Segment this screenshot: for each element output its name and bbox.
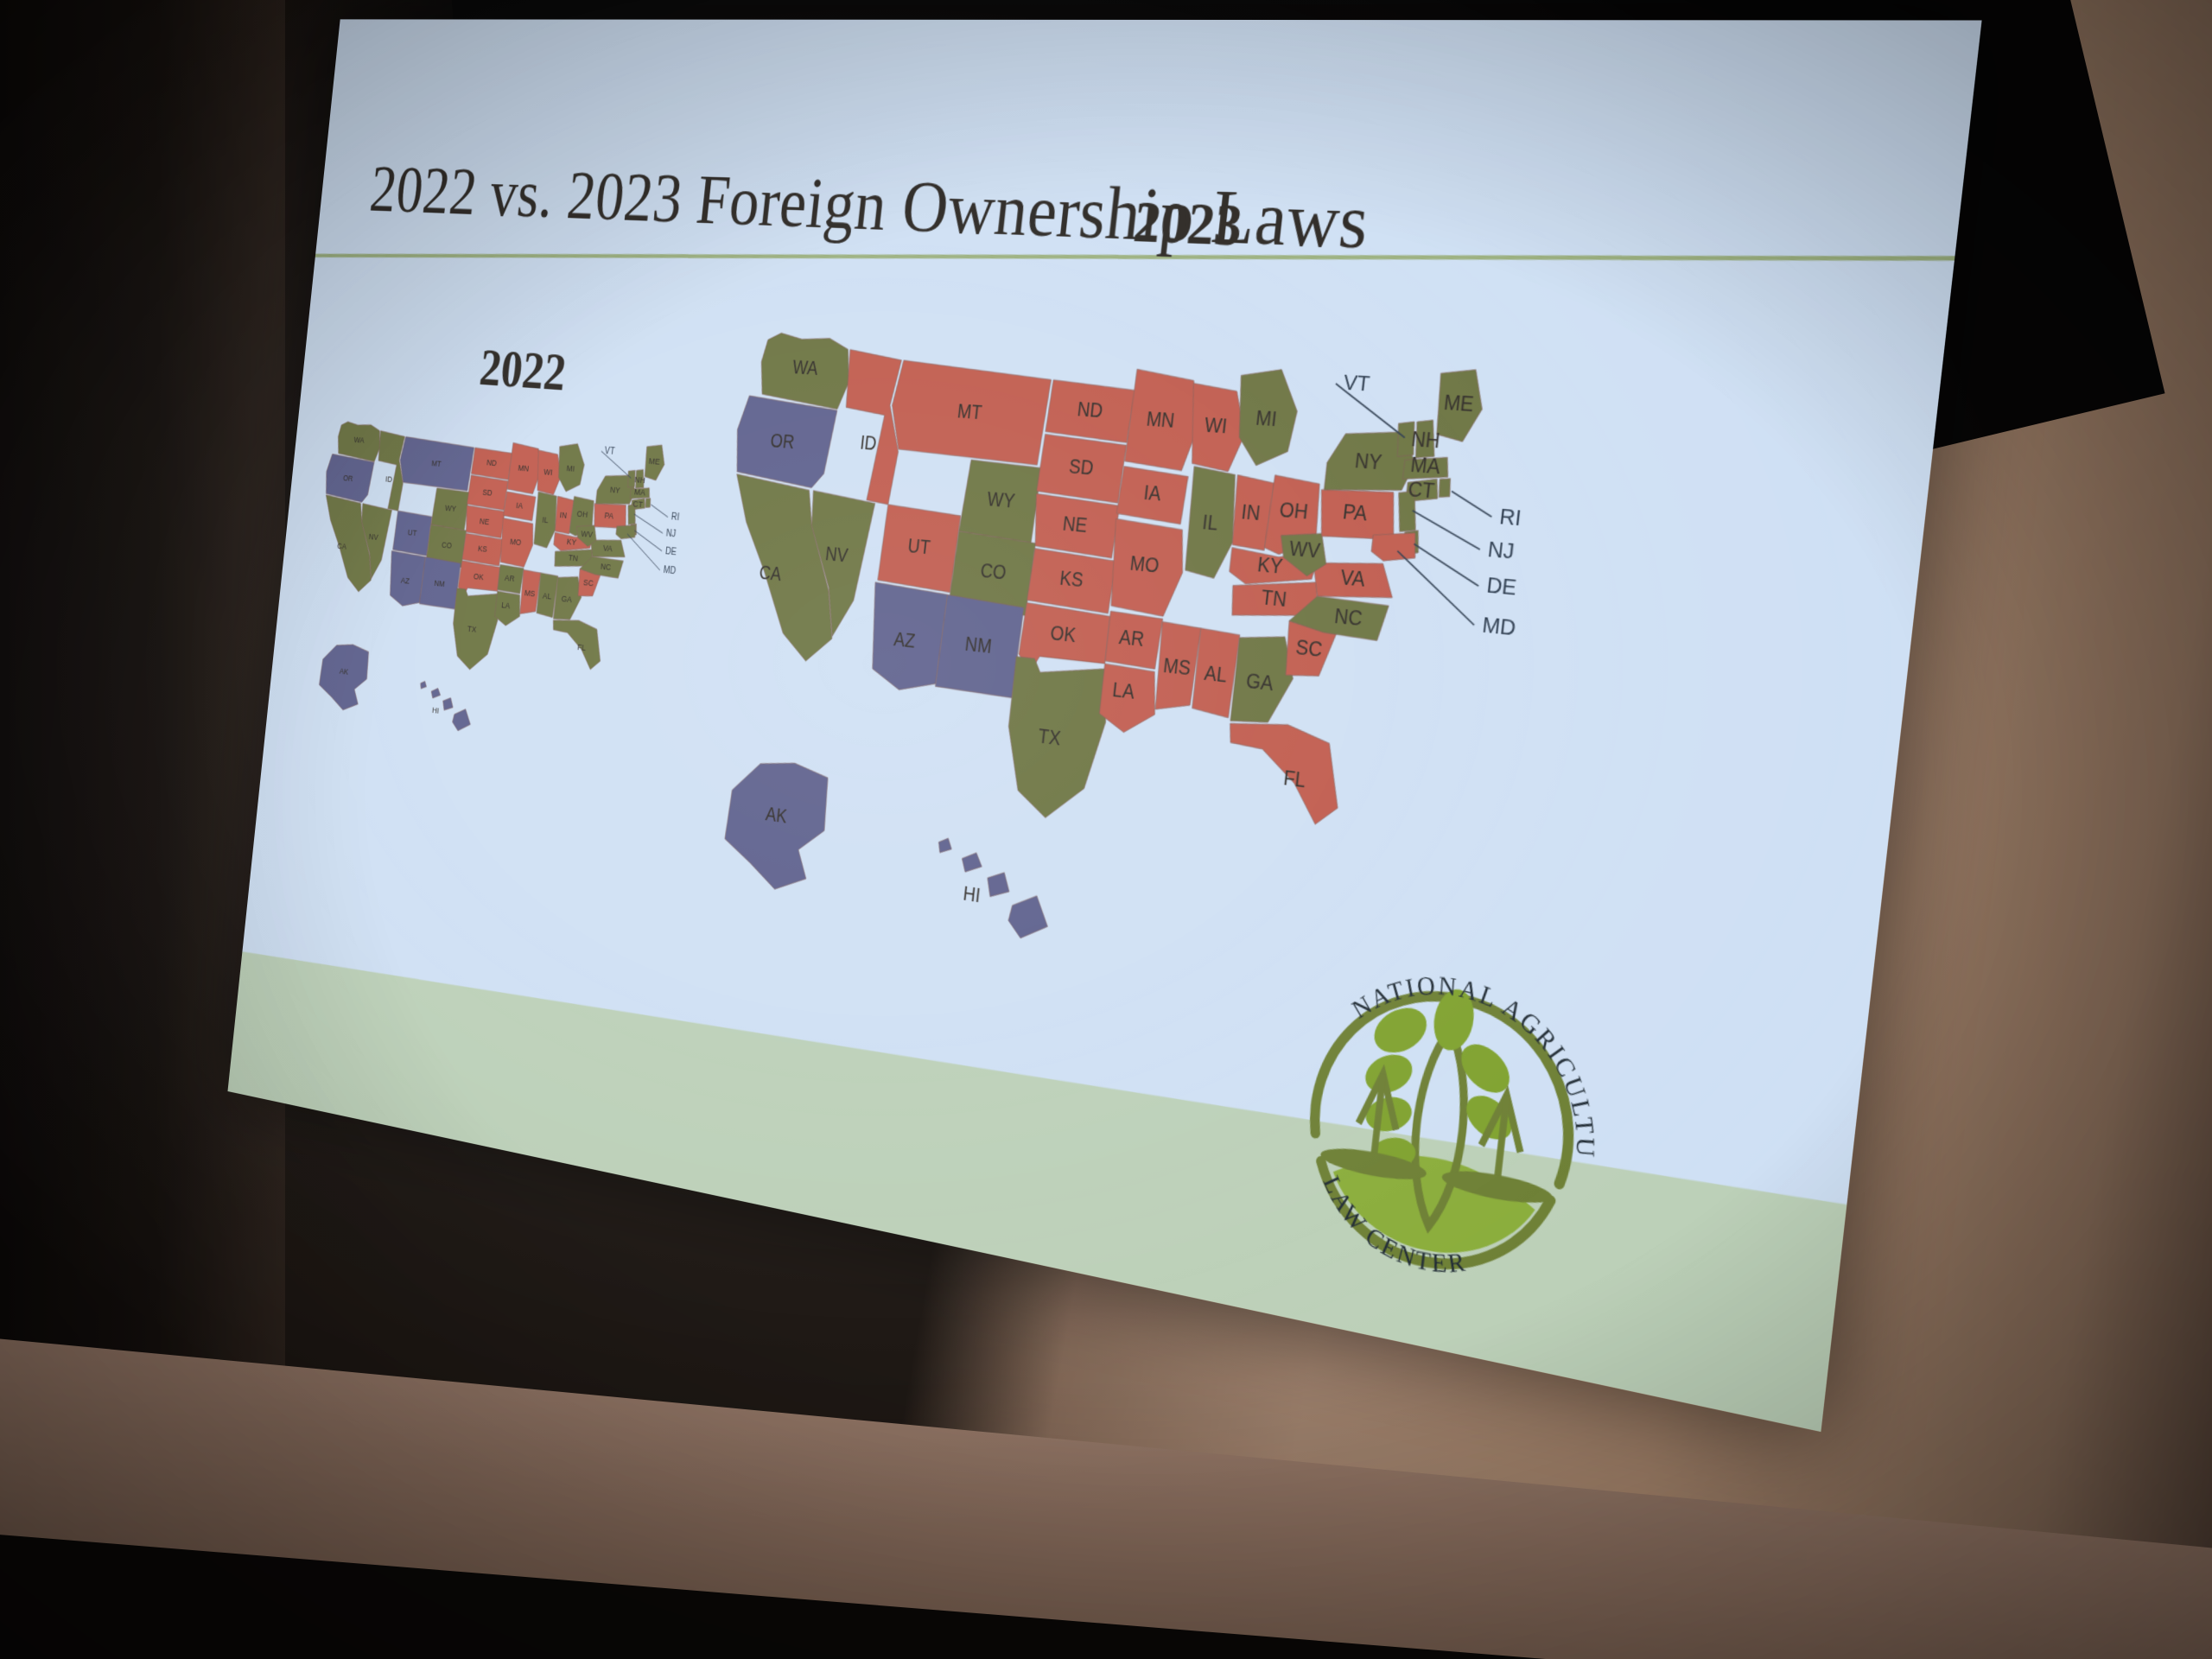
- slide-bottom-band: [227, 944, 1981, 1432]
- state-label-il: IL: [542, 516, 550, 526]
- us-map-2022: WAORCANVIDMTWYUTCOAZNMNDSDNEKSOKTXMNIAMO…: [273, 379, 842, 869]
- logo-leaves: [1349, 974, 1534, 1197]
- state-sc: [577, 569, 601, 598]
- state-ar: [498, 565, 524, 594]
- state-fl: [1220, 718, 1346, 827]
- logo-pan-right: [1440, 1165, 1553, 1209]
- state-id: [834, 350, 909, 505]
- state-nd: [471, 448, 512, 480]
- state-tn: [554, 546, 594, 570]
- state-label-ks: KS: [1058, 569, 1084, 592]
- state-label-ms: MS: [1162, 656, 1192, 681]
- state-label-oh: OH: [1279, 499, 1309, 523]
- leader-line-nj: [632, 514, 664, 533]
- state-label-il: IL: [1201, 512, 1218, 535]
- state-in: [554, 496, 574, 534]
- state-va: [589, 537, 627, 560]
- state-label-nh: NH: [1410, 429, 1441, 454]
- room-scene: 2022 vs. 2023 Foreign Ownership Laws 202…: [0, 0, 2212, 1659]
- state-label-nh: NH: [634, 475, 645, 486]
- leader-line-md: [624, 534, 664, 570]
- state-md: [1370, 530, 1418, 563]
- state-de: [1402, 530, 1421, 556]
- state-nc: [1288, 594, 1389, 641]
- state-pa: [1317, 486, 1399, 542]
- state-label-mi: MI: [1255, 408, 1278, 431]
- leader-line-de: [1410, 544, 1483, 587]
- state-ga: [1230, 632, 1298, 728]
- state-label-or: OR: [769, 431, 795, 454]
- state-label-fl: FL: [1282, 767, 1306, 792]
- state-ma: [630, 486, 651, 500]
- state-label-oh: OH: [576, 510, 588, 521]
- state-label-ma: MA: [1409, 454, 1442, 479]
- state-ny: [595, 473, 637, 507]
- state-az: [386, 550, 426, 607]
- state-al: [1192, 628, 1240, 718]
- state-label-tn: TN: [1260, 588, 1287, 613]
- us-map-2022-svg: WAORCANVIDMTWYUTCOAZNMNDSDNEKSOKTXMNIAMO…: [273, 379, 842, 869]
- state-nh: [1413, 419, 1438, 459]
- state-nm: [935, 594, 1025, 698]
- state-nh: [634, 469, 645, 489]
- state-label-ma: MA: [633, 487, 645, 499]
- state-me: [1433, 368, 1486, 443]
- state-oh: [569, 496, 595, 537]
- state-label-ct: CT: [632, 499, 644, 511]
- state-label-va: VA: [602, 543, 613, 555]
- state-wy: [430, 488, 469, 531]
- state-wa: [336, 421, 383, 461]
- state-ks: [462, 533, 504, 566]
- state-mn: [507, 442, 543, 494]
- logo-ring-bottom: [1313, 1158, 1550, 1285]
- state-ak: [317, 641, 371, 713]
- projected-slide: 2022 vs. 2023 Foreign Ownership Laws 202…: [227, 19, 1981, 1432]
- state-label-tn: TN: [568, 553, 578, 564]
- state-ne: [1030, 493, 1120, 558]
- state-wy: [958, 460, 1042, 543]
- state-label-nj: NJ: [1487, 537, 1516, 564]
- state-md: [615, 524, 636, 540]
- state-label-ms: MS: [524, 588, 536, 599]
- state-label-al: AL: [542, 591, 552, 601]
- state-label-ky: KY: [1256, 554, 1284, 578]
- title-divider-rule: [308, 254, 1982, 261]
- state-label-la: LA: [1111, 679, 1136, 703]
- state-label-ca: CA: [759, 563, 783, 585]
- logo-ring-right: [1447, 1000, 1583, 1185]
- state-label-nm: NM: [964, 634, 993, 658]
- state-ky: [1228, 545, 1319, 591]
- state-hi: [416, 681, 474, 733]
- state-wv: [575, 524, 598, 547]
- state-label-nv: NV: [824, 543, 849, 566]
- state-label-wy: WY: [986, 489, 1015, 512]
- state-nm: [419, 556, 461, 609]
- state-label-ga: GA: [561, 594, 573, 606]
- state-mo: [1106, 518, 1188, 618]
- state-label-mi: MI: [566, 464, 575, 474]
- state-mt: [887, 360, 1052, 466]
- state-ms: [519, 569, 541, 615]
- state-label-sc: SC: [1294, 637, 1323, 662]
- state-label-wv: WV: [1288, 538, 1322, 563]
- state-label-ky: KY: [566, 537, 577, 548]
- state-nc: [579, 556, 623, 579]
- state-hi: [930, 837, 1056, 943]
- state-label-ut: UT: [906, 536, 931, 559]
- state-or: [324, 454, 375, 503]
- leader-line-ri: [1449, 491, 1494, 517]
- state-label-pa: PA: [1342, 501, 1370, 525]
- state-wi: [534, 450, 563, 495]
- leader-line-vt: [1331, 384, 1411, 438]
- state-de: [629, 524, 637, 537]
- state-label-ct: CT: [1407, 479, 1435, 504]
- state-label-hi: HI: [432, 705, 440, 715]
- state-label-az: AZ: [893, 629, 916, 652]
- state-label-id: ID: [859, 433, 877, 454]
- state-label-ak: AK: [765, 804, 789, 827]
- state-label-ia: IA: [1142, 483, 1162, 506]
- logo-ring-left: [1313, 979, 1453, 1155]
- state-tx: [448, 588, 500, 672]
- state-ar: [1105, 611, 1163, 669]
- state-label-sd: SD: [1068, 456, 1095, 480]
- logo-stalk: [1406, 1026, 1473, 1230]
- state-label-ri: RI: [1498, 504, 1522, 531]
- state-wi: [1185, 383, 1250, 472]
- state-ia: [503, 492, 536, 521]
- logo-arc-text-top: NATIONAL AGRICULTURAL: [1265, 925, 1623, 1163]
- us-map-2023: WAORCANVIDMTWYUTCOAZNMNDSDNEKSOKTXMNIAMO…: [613, 255, 1937, 1259]
- state-wv: [1277, 530, 1330, 577]
- leader-line-nj: [1408, 511, 1484, 550]
- state-label-ga: GA: [1245, 670, 1275, 695]
- state-co: [949, 531, 1037, 616]
- state-ms: [1153, 621, 1201, 713]
- state-label-de: DE: [664, 546, 677, 558]
- state-ky: [553, 531, 594, 554]
- state-vt: [626, 470, 636, 488]
- state-la: [1097, 664, 1160, 736]
- state-ct: [1406, 477, 1440, 505]
- logo-pan-left: [1319, 1142, 1427, 1185]
- state-label-nc: NC: [600, 562, 611, 573]
- state-ut: [877, 505, 961, 593]
- state-label-de: DE: [1485, 573, 1518, 601]
- state-tn: [1230, 575, 1321, 624]
- page-title: 2022 vs. 2023 Foreign Ownership Laws: [366, 152, 1678, 280]
- state-label-fl: FL: [576, 643, 586, 654]
- state-sd: [1036, 434, 1127, 503]
- state-label-ny: NY: [1354, 450, 1383, 474]
- state-il: [532, 492, 559, 549]
- state-az: [864, 582, 948, 695]
- state-fl: [549, 618, 604, 671]
- state-ks: [1027, 549, 1116, 614]
- state-label-sc: SC: [583, 578, 594, 589]
- state-label-md: MD: [663, 565, 677, 577]
- leader-line-ri: [650, 505, 669, 518]
- slide-background: 2022 vs. 2023 Foreign Ownership Laws 202…: [227, 19, 1981, 1432]
- projection-perspective: 2022 vs. 2023 Foreign Ownership Laws 202…: [0, 0, 2212, 1659]
- state-label-md: MD: [1481, 612, 1517, 640]
- state-ny: [1324, 427, 1418, 496]
- state-label-al: AL: [1203, 663, 1228, 687]
- state-label-in: IN: [559, 511, 567, 521]
- logo-arc-text-bottom: LAW CENTER: [1310, 1168, 1478, 1285]
- state-label-mn: MN: [1145, 409, 1175, 432]
- state-mn: [1124, 369, 1202, 472]
- state-label-nd: ND: [1076, 398, 1103, 422]
- state-ok: [1017, 602, 1110, 679]
- leader-line-vt: [599, 451, 633, 478]
- leader-line-de: [632, 531, 664, 551]
- state-label-id: ID: [385, 475, 393, 486]
- state-vt: [1395, 421, 1417, 458]
- state-label-tx: TX: [1037, 727, 1061, 751]
- state-ga: [554, 575, 584, 621]
- state-label-va: VA: [1339, 567, 1367, 592]
- us-map-2023-svg: WAORCANVIDMTWYUTCOAZNMNDSDNEKSOKTXMNIAMO…: [613, 255, 1937, 1259]
- national-agricultural-law-center-logo: NATIONAL AGRICULTURAL LAW CENTER: [1256, 925, 1633, 1338]
- state-mi: [555, 442, 586, 493]
- leader-line-md: [1390, 551, 1482, 626]
- state-label-ok: OK: [1049, 622, 1077, 646]
- state-va: [1310, 557, 1396, 603]
- state-label-vt: VT: [604, 446, 615, 457]
- state-oh: [1264, 475, 1323, 558]
- state-label-mt: MT: [957, 401, 983, 423]
- state-label-co: CO: [979, 561, 1007, 584]
- state-label-ar: AR: [1118, 627, 1145, 652]
- state-ma: [1403, 454, 1451, 483]
- state-sc: [1283, 621, 1337, 681]
- state-tx: [1000, 657, 1112, 824]
- state-label-nj: NJ: [665, 528, 677, 540]
- state-label-wa: WA: [791, 358, 819, 380]
- map-label-2023: 2023: [1130, 188, 1246, 260]
- state-label-ri: RI: [671, 512, 680, 524]
- state-la: [494, 591, 523, 627]
- state-me: [644, 444, 667, 481]
- state-al: [537, 573, 558, 618]
- state-nv: [798, 491, 876, 639]
- state-ut: [392, 511, 432, 556]
- logo-hill: [1326, 1140, 1539, 1270]
- state-label-mo: MO: [1128, 554, 1160, 578]
- state-label-me: ME: [1443, 392, 1475, 417]
- state-label-ne: NE: [1062, 513, 1089, 537]
- state-ak: [721, 755, 831, 896]
- state-label-hi: HI: [962, 884, 981, 908]
- state-label-vt: VT: [1342, 371, 1370, 397]
- state-ca: [718, 474, 849, 664]
- state-label-pa: PA: [604, 511, 614, 521]
- state-label-wi: WI: [1204, 415, 1229, 438]
- state-wa: [757, 332, 854, 410]
- state-sd: [467, 475, 508, 511]
- state-label-in: IN: [1240, 501, 1261, 524]
- state-label-wi: WI: [543, 467, 553, 478]
- state-il: [1182, 467, 1241, 580]
- state-mo: [498, 518, 535, 569]
- state-label-me: ME: [648, 457, 660, 468]
- state-mi: [1231, 367, 1301, 468]
- state-ct: [631, 498, 645, 512]
- state-mt: [397, 436, 474, 491]
- logo-svg: NATIONAL AGRICULTURAL LAW CENTER: [1256, 925, 1633, 1338]
- logo-scales: [1355, 1071, 1527, 1188]
- state-ia: [1116, 467, 1189, 524]
- state-label-nc: NC: [1333, 605, 1363, 630]
- state-ne: [464, 505, 505, 538]
- state-or: [732, 395, 838, 489]
- state-ri: [1438, 478, 1452, 498]
- state-in: [1230, 475, 1274, 550]
- state-label-ny: NY: [609, 485, 620, 496]
- state-nd: [1045, 379, 1135, 442]
- state-ri: [645, 498, 651, 508]
- state-pa: [592, 502, 628, 530]
- state-nj: [626, 504, 638, 525]
- state-nj: [1395, 490, 1420, 533]
- state-label-wv: WV: [581, 529, 594, 540]
